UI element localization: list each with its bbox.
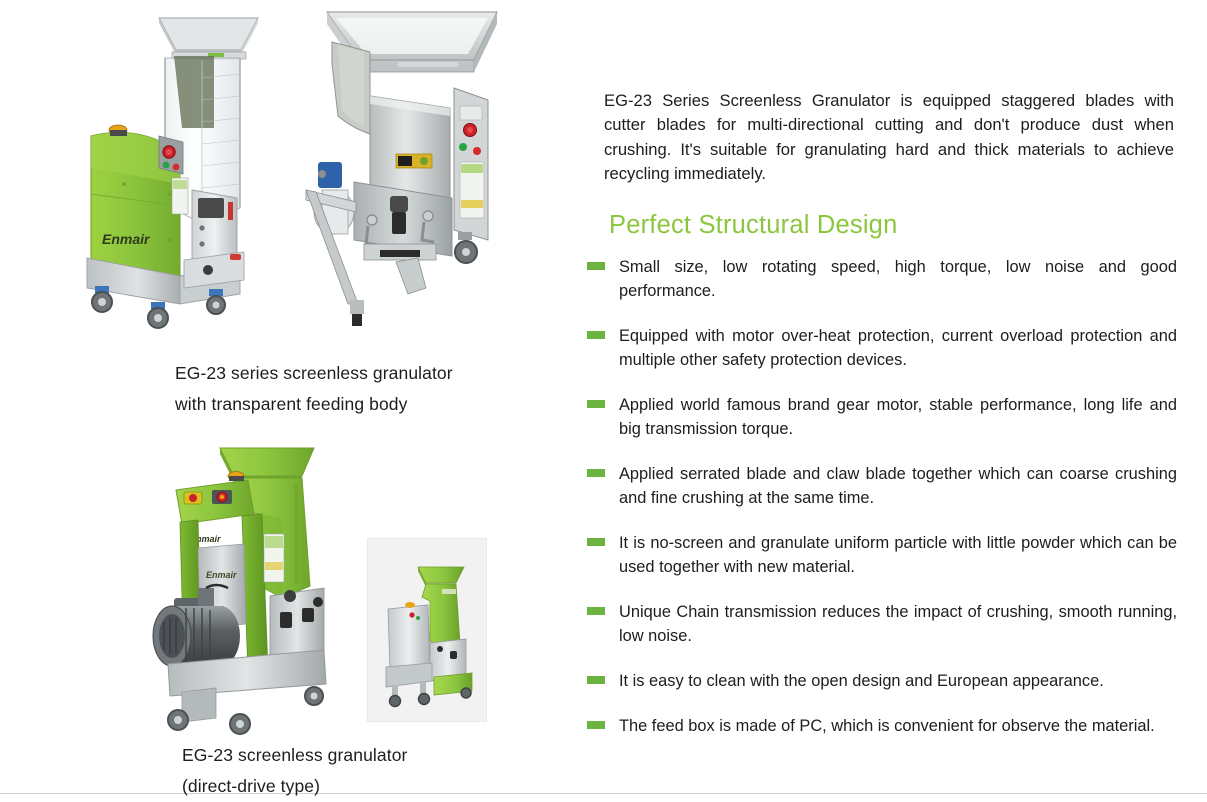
feature-text: Unique Chain transmission reduces the im… — [619, 600, 1177, 648]
product-image-stainless-granulator[interactable] — [292, 4, 544, 346]
bullet-marker-icon — [587, 262, 605, 270]
feature-text: It is no-screen and granulate uniform pa… — [619, 531, 1177, 579]
caption-line-1: EG-23 series screenless granulator — [175, 358, 453, 389]
bullet-marker-icon — [587, 469, 605, 477]
svg-text:Enmair: Enmair — [206, 570, 237, 580]
feature-item: Unique Chain transmission reduces the im… — [583, 600, 1177, 648]
feature-item: It is easy to clean with the open design… — [583, 669, 1177, 693]
intro-paragraph: EG-23 Series Screenless Granulator is eq… — [604, 89, 1174, 187]
feature-item: Applied serrated blade and claw blade to… — [583, 462, 1177, 510]
caster — [455, 232, 477, 263]
feature-text: The feed box is made of PC, which is con… — [619, 714, 1177, 738]
caption-line-1: EG-23 screenless granulator — [182, 740, 407, 771]
hopper-steel — [159, 18, 258, 59]
caption-direct-drive-type: EG-23 screenless granulator (direct-driv… — [182, 740, 407, 802]
section-heading-perfect-structural-design: Perfect Structural Design — [609, 211, 897, 240]
feature-item: Equipped with motor over-heat protection… — [583, 324, 1177, 372]
feature-text: It is easy to clean with the open design… — [619, 669, 1177, 693]
feature-item: Applied world famous brand gear motor, s… — [583, 393, 1177, 441]
product-image-granulator-thumbnail — [368, 539, 487, 722]
caption-line-2: with transparent feeding body — [175, 389, 453, 420]
product-thumbnail-frame[interactable] — [367, 538, 487, 722]
feature-text: Equipped with motor over-heat protection… — [619, 324, 1177, 372]
feature-text: Small size, low rotating speed, high tor… — [619, 255, 1177, 303]
brand-label-enmair: Enmair — [102, 231, 151, 247]
bullet-marker-icon — [587, 676, 605, 684]
feature-item: It is no-screen and granulate uniform pa… — [583, 531, 1177, 579]
feature-text: Applied world famous brand gear motor, s… — [619, 393, 1177, 441]
product-description-column: EG-23 Series Screenless Granulator is eq… — [604, 0, 1176, 794]
control-pillar — [454, 88, 488, 240]
feature-list: Small size, low rotating speed, high tor… — [583, 255, 1177, 738]
feature-item: The feed box is made of PC, which is con… — [583, 714, 1177, 738]
product-images-column: Enmair — [0, 0, 580, 794]
caption-line-2: (direct-drive type) — [182, 771, 407, 802]
bullet-marker-icon — [587, 400, 605, 408]
bullet-marker-icon — [587, 721, 605, 729]
feature-text: Applied serrated blade and claw blade to… — [619, 462, 1177, 510]
bullet-marker-icon — [587, 331, 605, 339]
caption-transparent-feeding-body: EG-23 series screenless granulator with … — [175, 358, 453, 420]
bullet-marker-icon — [587, 538, 605, 546]
product-image-direct-drive-granulator[interactable]: Enmair Enmair — [142, 436, 366, 738]
feature-item: Small size, low rotating speed, high tor… — [583, 255, 1177, 303]
bullet-marker-icon — [587, 607, 605, 615]
product-image-transparent-feeding-body[interactable]: Enmair — [62, 8, 314, 350]
